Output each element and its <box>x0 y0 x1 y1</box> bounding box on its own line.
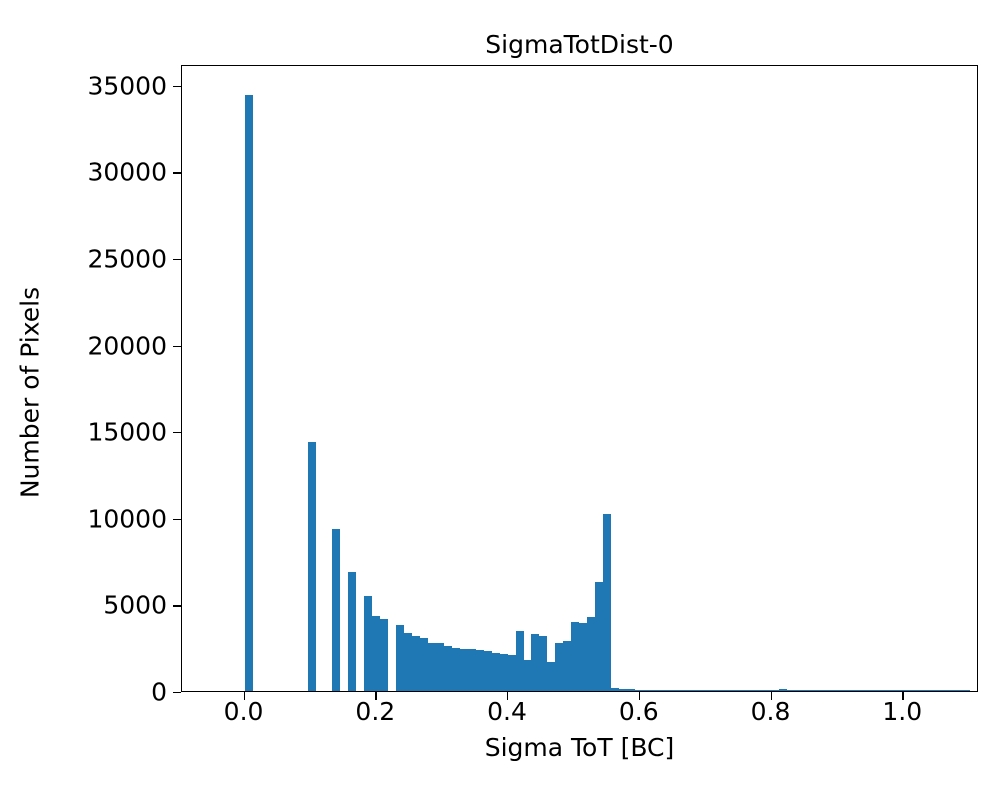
histogram-bar <box>659 690 667 691</box>
histogram-bar <box>579 623 587 691</box>
histogram-bar <box>675 690 683 691</box>
histogram-bar <box>731 690 739 691</box>
x-axis-tick-mark <box>639 692 640 700</box>
x-axis-tick-label: 0.2 <box>355 698 395 726</box>
histogram-bar <box>380 619 388 691</box>
y-axis-tick-mark <box>173 259 181 260</box>
histogram-bar <box>771 690 779 691</box>
histogram-bar <box>818 690 826 691</box>
histogram-bar <box>739 690 747 691</box>
y-axis-tick-mark <box>173 519 181 520</box>
histogram-bar <box>571 622 579 691</box>
histogram-bar <box>404 633 412 691</box>
histogram-bar <box>555 643 563 691</box>
histogram-bar <box>938 690 946 691</box>
histogram-bar <box>795 690 803 691</box>
x-axis-tick-mark <box>375 692 376 700</box>
histogram-bar <box>667 690 675 691</box>
histogram-bar <box>468 649 476 691</box>
histogram-bar <box>723 690 731 691</box>
histogram-bar <box>245 95 253 691</box>
y-axis-tick-mark <box>173 432 181 433</box>
histogram-bar <box>492 653 500 691</box>
histogram-bar <box>539 636 547 691</box>
histogram-bar <box>308 442 316 691</box>
histogram-bar <box>922 690 930 691</box>
y-axis-tick-label: 5000 <box>103 593 167 618</box>
histogram-bar <box>563 641 571 691</box>
histogram-bar <box>436 643 444 691</box>
y-axis-tick-mark <box>173 346 181 347</box>
plot-area <box>181 65 978 692</box>
x-axis-tick-label: 0.4 <box>487 698 527 726</box>
histogram-bar <box>460 649 468 691</box>
histogram-bar <box>372 616 380 691</box>
histogram-series <box>182 66 977 691</box>
x-axis-tick-mark <box>902 692 903 700</box>
histogram-bar <box>547 662 555 691</box>
histogram-bar <box>508 655 516 691</box>
histogram-bar <box>954 690 962 691</box>
y-axis-tick-group: 05000100001500020000250003000035000 <box>0 0 181 800</box>
histogram-bar <box>635 690 643 691</box>
y-axis-tick-label: 10000 <box>87 506 167 531</box>
x-axis-tick-label: 0.0 <box>224 698 264 726</box>
page-title: SigmaTotDist-0 <box>181 30 978 60</box>
histogram-bar <box>516 631 524 691</box>
x-axis-label: Sigma ToT [BC] <box>181 733 978 762</box>
histogram-bar <box>906 690 914 691</box>
histogram-bar <box>763 690 771 691</box>
histogram-bar <box>396 625 404 691</box>
histogram-bar <box>930 690 938 691</box>
histogram-bar <box>332 529 340 691</box>
histogram-bar <box>500 654 508 691</box>
histogram-bar <box>779 689 787 691</box>
histogram-bar <box>699 690 707 691</box>
histogram-bar <box>834 690 842 691</box>
histogram-bar <box>914 690 922 691</box>
figure-canvas: SigmaTotDist-0 Number of Pixels 05000100… <box>0 0 1000 800</box>
histogram-bar <box>428 643 436 691</box>
histogram-bar <box>619 689 627 691</box>
histogram-bar <box>651 690 659 691</box>
histogram-bar <box>683 690 691 691</box>
histogram-bar <box>755 690 763 691</box>
histogram-bar <box>747 690 755 691</box>
y-axis-tick-label: 15000 <box>87 420 167 445</box>
histogram-bar <box>691 690 699 691</box>
histogram-bar <box>452 648 460 691</box>
histogram-bar <box>946 690 954 691</box>
x-axis-tick-label: 0.6 <box>619 698 659 726</box>
x-axis-tick-mark <box>507 692 508 700</box>
y-axis-tick-label: 20000 <box>87 333 167 358</box>
histogram-bar <box>412 636 420 691</box>
y-axis-tick-label: 35000 <box>87 73 167 98</box>
histogram-bar <box>962 690 970 691</box>
histogram-bar <box>707 690 715 691</box>
histogram-bar <box>810 690 818 691</box>
histogram-bar <box>842 690 850 691</box>
x-axis-tick-mark <box>244 692 245 700</box>
histogram-bar <box>611 688 619 691</box>
histogram-bar <box>643 690 651 691</box>
histogram-bar <box>627 689 635 691</box>
histogram-bar <box>595 582 603 691</box>
histogram-bar <box>420 638 428 691</box>
x-axis-tick-label: 1.0 <box>882 698 922 726</box>
histogram-bar <box>898 690 906 691</box>
histogram-bar <box>484 651 492 691</box>
histogram-bar <box>603 514 611 691</box>
histogram-bar <box>890 690 898 691</box>
histogram-bar <box>364 596 372 691</box>
y-axis-tick-mark <box>173 605 181 606</box>
histogram-bar <box>587 617 595 691</box>
histogram-bar <box>348 572 356 691</box>
histogram-bar <box>531 634 539 691</box>
histogram-bar <box>524 660 532 691</box>
y-axis-tick-label: 0 <box>151 680 167 705</box>
histogram-bar <box>476 650 484 691</box>
y-axis-tick-mark <box>173 172 181 173</box>
histogram-bar <box>802 690 810 691</box>
histogram-bar <box>715 690 723 691</box>
histogram-bar <box>866 690 874 691</box>
histogram-bar <box>444 646 452 691</box>
histogram-bar <box>874 690 882 691</box>
x-axis-tick-mark <box>771 692 772 700</box>
histogram-bar <box>787 690 795 691</box>
histogram-bar <box>850 690 858 691</box>
y-axis-tick-mark <box>173 86 181 87</box>
y-axis-tick-label: 30000 <box>87 160 167 185</box>
y-axis-tick-mark <box>173 692 181 693</box>
y-axis-tick-label: 25000 <box>87 246 167 271</box>
histogram-bar <box>882 690 890 691</box>
histogram-bar <box>826 690 834 691</box>
histogram-bar <box>858 690 866 691</box>
x-axis-tick-label: 0.8 <box>751 698 791 726</box>
